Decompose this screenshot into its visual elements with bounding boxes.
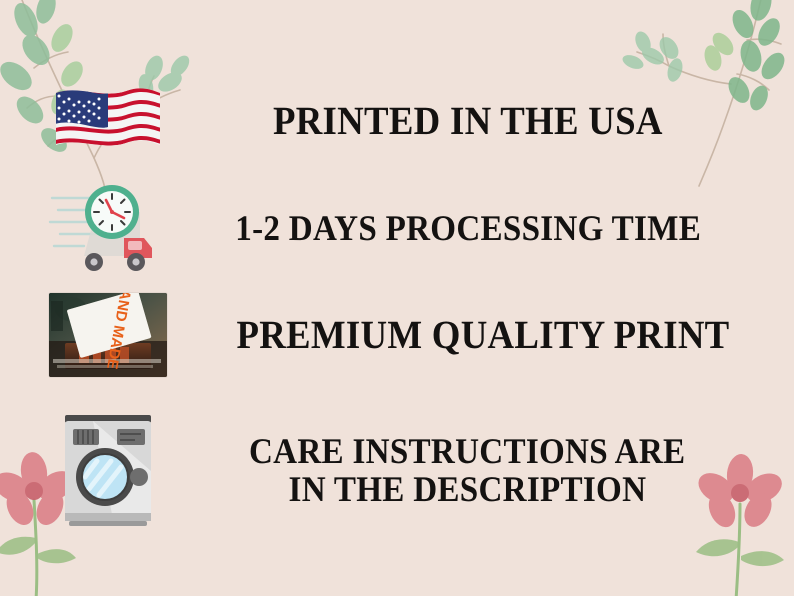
headline-processing-time: 1-2 DAYS PROCESSING TIME [235,209,701,247]
feature-row-processing-time: 1-2 DAYS PROCESSING TIME [0,180,794,276]
headline-printed-in-usa: PRINTED IN THE USA [273,100,663,142]
headline-care-instructions-line1: CARE INSTRUCTIONS ARE [249,432,685,470]
headline-quality-print: PREMIUM QUALITY PRINT [236,314,729,356]
text-cell-quality-print: PREMIUM QUALITY PRINT [215,314,794,356]
feature-row-care-instructions: CARE INSTRUCTIONS ARE IN THE DESCRIPTION [0,400,794,540]
icon-cell-fast-delivery [0,178,215,278]
text-cell-care-instructions: CARE INSTRUCTIONS ARE IN THE DESCRIPTION [215,432,794,508]
headline-care-instructions-line2: IN THE DESCRIPTION [289,470,647,508]
us-flag-icon [52,83,164,159]
icon-cell-us-flag [0,83,215,159]
fast-delivery-clock-truck-icon [48,178,168,278]
text-cell-processing-time: 1-2 DAYS PROCESSING TIME [215,209,794,247]
text-cell-printed-in-usa: PRINTED IN THE USA [215,100,794,142]
product-info-graphic: PRINTED IN THE USA [0,0,794,596]
icon-cell-print-photo: HAND MADE [0,293,215,377]
washing-machine-icon [55,409,161,531]
feature-row-quality-print: HAND MADE PREMIUM QUALITY PRINT [0,288,794,382]
icon-cell-washing-machine [0,409,215,531]
feature-row-printed-in-usa: PRINTED IN THE USA [0,78,794,164]
screen-printing-photo-icon: HAND MADE [49,293,167,377]
